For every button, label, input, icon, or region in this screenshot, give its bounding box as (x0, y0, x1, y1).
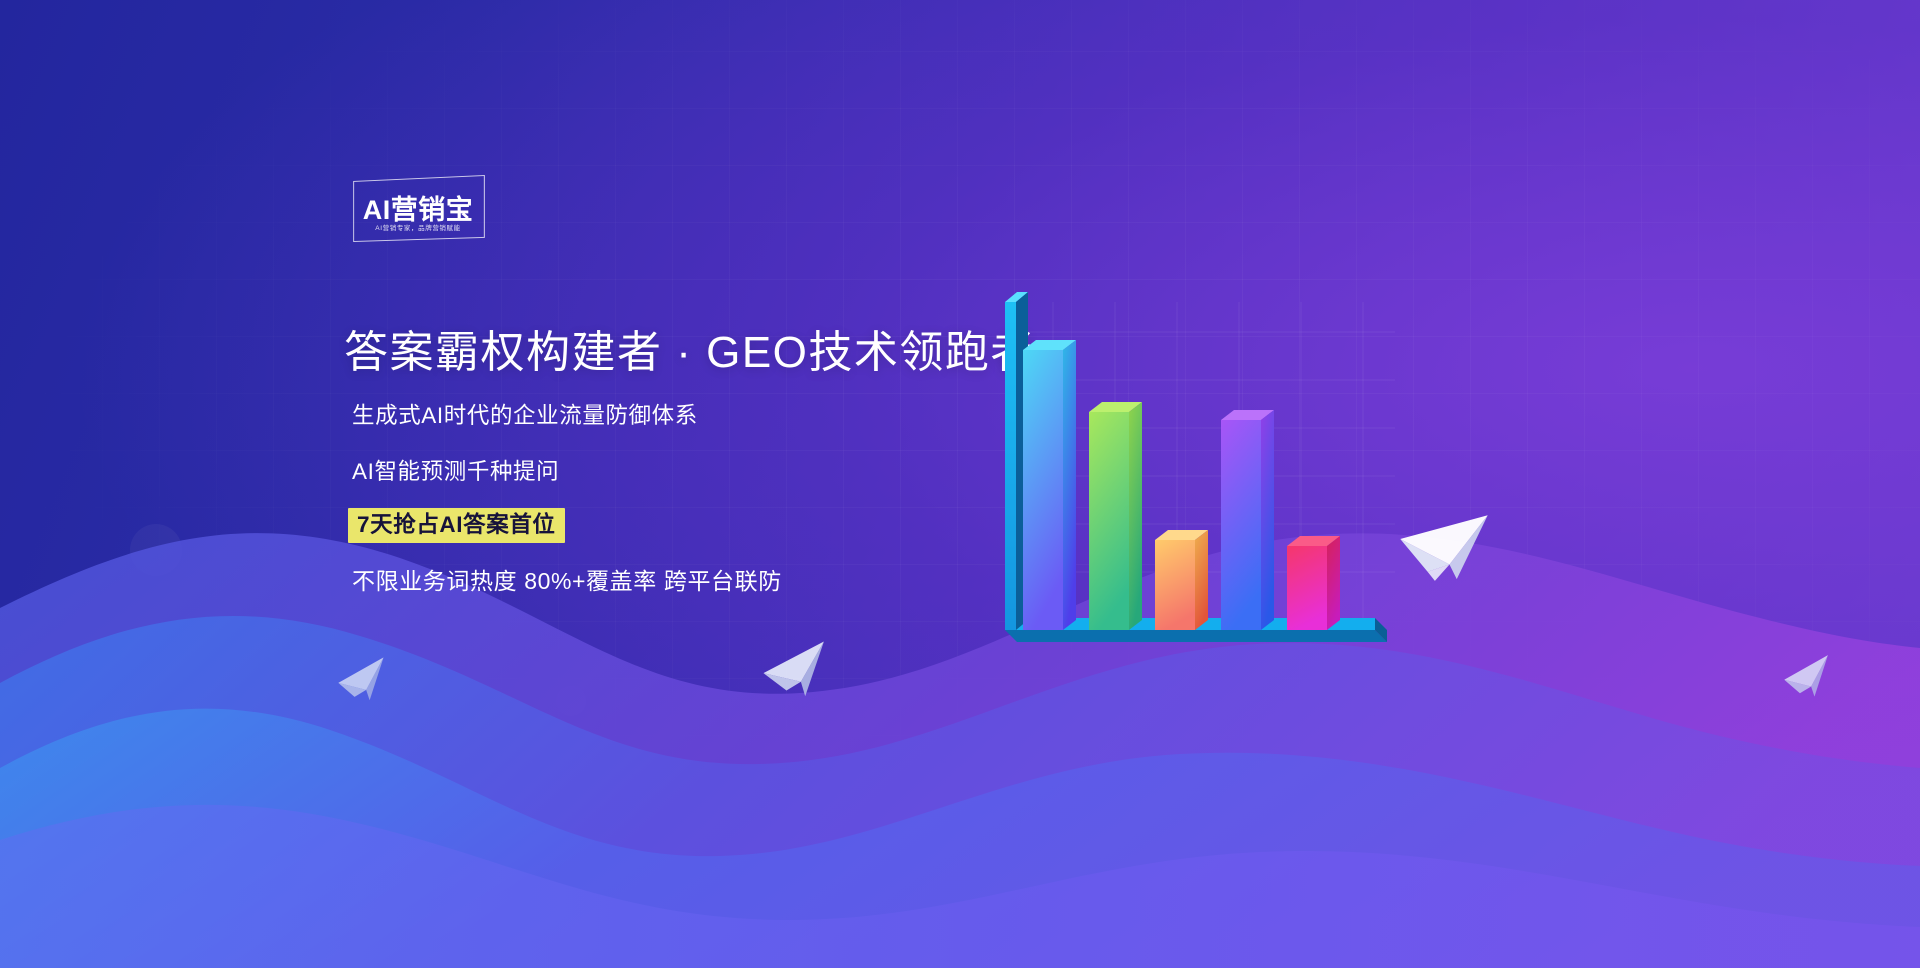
hero-subline-2: AI智能预测千种提问 (352, 454, 559, 486)
logo-text: AI营销宝 (363, 197, 474, 224)
hero-subline-4: 不限业务词热度 80%+覆盖率 跨平台联防 (352, 562, 782, 596)
hero-subline-1: 生成式AI时代的企业流量防御体系 (352, 398, 698, 430)
chart-bar-5 (1287, 536, 1340, 630)
paper-plane-small-right-icon (1782, 650, 1838, 704)
paper-plane-small-left-icon (336, 652, 394, 708)
chart-bar-3 (1155, 530, 1208, 630)
chart-bar-1 (1023, 340, 1076, 630)
chart-bar-4 (1221, 410, 1274, 630)
hero-banner: AI营销宝 AI营销专家，品牌营销赋能 答案霸权构建者 · GEO技术领跑者 生… (0, 0, 1920, 968)
paper-plane-mid-center-icon (762, 638, 834, 704)
wave-decoration (0, 468, 1920, 968)
hero-highlight-badge: 7天抢占AI答案首位 (348, 508, 565, 543)
brand-logo: AI营销宝 AI营销专家，品牌营销赋能 (352, 178, 484, 240)
bar-chart-illustration (975, 292, 1455, 670)
logo-tagline: AI营销专家，品牌营销赋能 (375, 226, 460, 233)
chart-bar-2 (1089, 402, 1142, 630)
page-title: 答案霸权构建者 · GEO技术领跑者 (344, 316, 1036, 380)
paper-plane-large-right-icon (1398, 508, 1490, 590)
hero-highlight-text: 7天抢占AI答案首位 (357, 512, 556, 537)
